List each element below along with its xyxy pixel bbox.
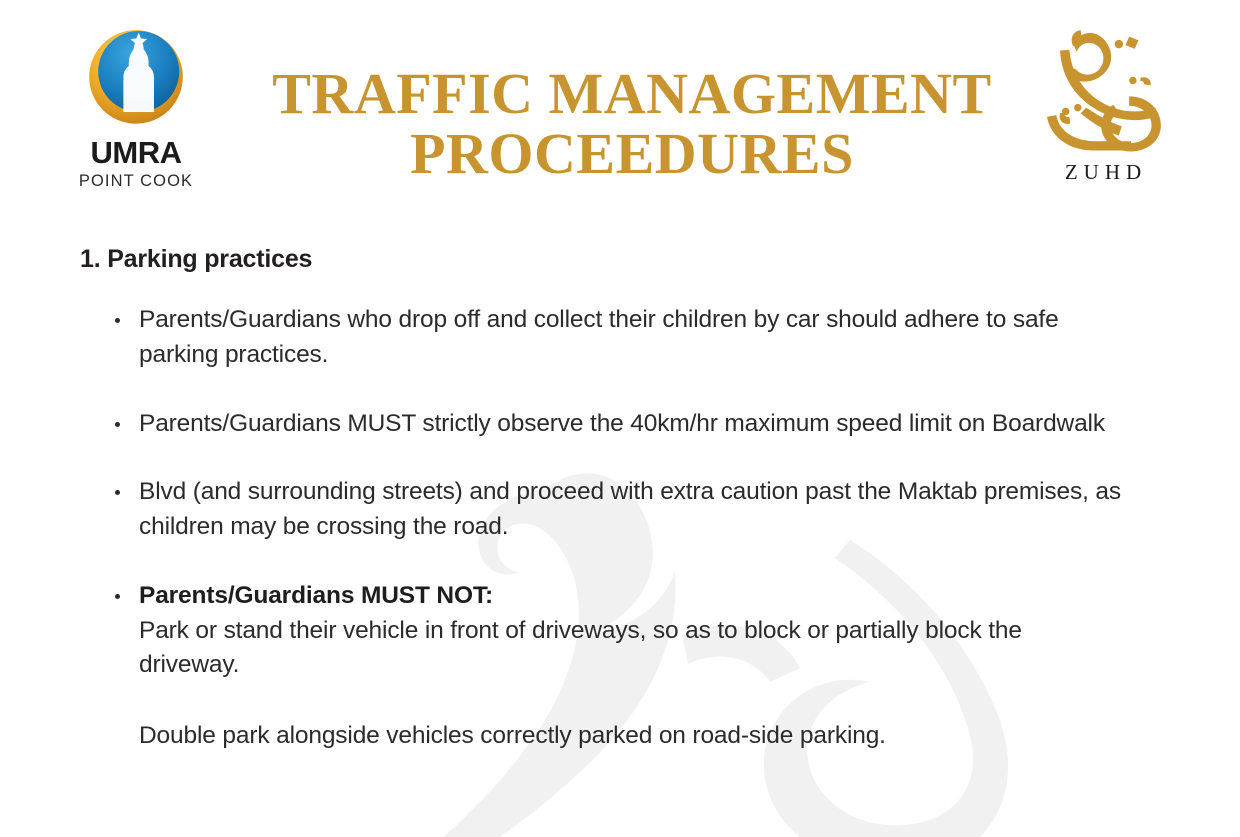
zuhd-logo: ZUHD — [1018, 18, 1188, 203]
zuhd-arabic-calligraphy-logo-icon — [1028, 18, 1178, 158]
list-item: Parents/Guardians who drop off and colle… — [112, 303, 1122, 373]
umra-mosque-crescent-logo-icon — [82, 22, 190, 130]
list-item: Blvd (and surrounding streets) and proce… — [112, 475, 1122, 545]
list-item-text: Parents/Guardians who drop off and colle… — [139, 303, 1122, 373]
page-title: TRAFFIC MANAGEMENT PROCEEDURES — [232, 64, 1032, 185]
parking-practices-bullet-list: Parents/Guardians who drop off and colle… — [112, 303, 1122, 754]
page-title-line-2: PROCEEDURES — [232, 124, 1032, 184]
page-title-line-1: TRAFFIC MANAGEMENT — [232, 64, 1032, 124]
umra-logo: UMRA POINT COOK — [68, 22, 204, 197]
slide-header: UMRA POINT COOK TRAFFIC MANAGEMENT PROCE… — [0, 0, 1240, 215]
zuhd-wordmark-text: ZUHD — [1018, 160, 1188, 185]
list-item-text: Parents/Guardians MUST strictly observe … — [139, 407, 1122, 442]
list-item-text: Blvd (and surrounding streets) and proce… — [139, 475, 1122, 545]
list-item-bold-lead: Parents/Guardians MUST NOT: — [139, 579, 1122, 614]
list-item: Parents/Guardians MUST NOT: Park or stan… — [112, 579, 1122, 683]
section-heading: 1. Parking practices — [80, 245, 312, 274]
slide-canvas: UMRA POINT COOK TRAFFIC MANAGEMENT PROCE… — [0, 0, 1240, 837]
trailing-paragraph: Double park alongside vehicles correctly… — [112, 719, 1122, 754]
umra-subtitle-text: POINT COOK — [68, 173, 204, 190]
list-item: Parents/Guardians MUST strictly observe … — [112, 407, 1122, 442]
list-item-text: Park or stand their vehicle in front of … — [139, 614, 1122, 684]
umra-brand-text: UMRA — [68, 137, 204, 168]
